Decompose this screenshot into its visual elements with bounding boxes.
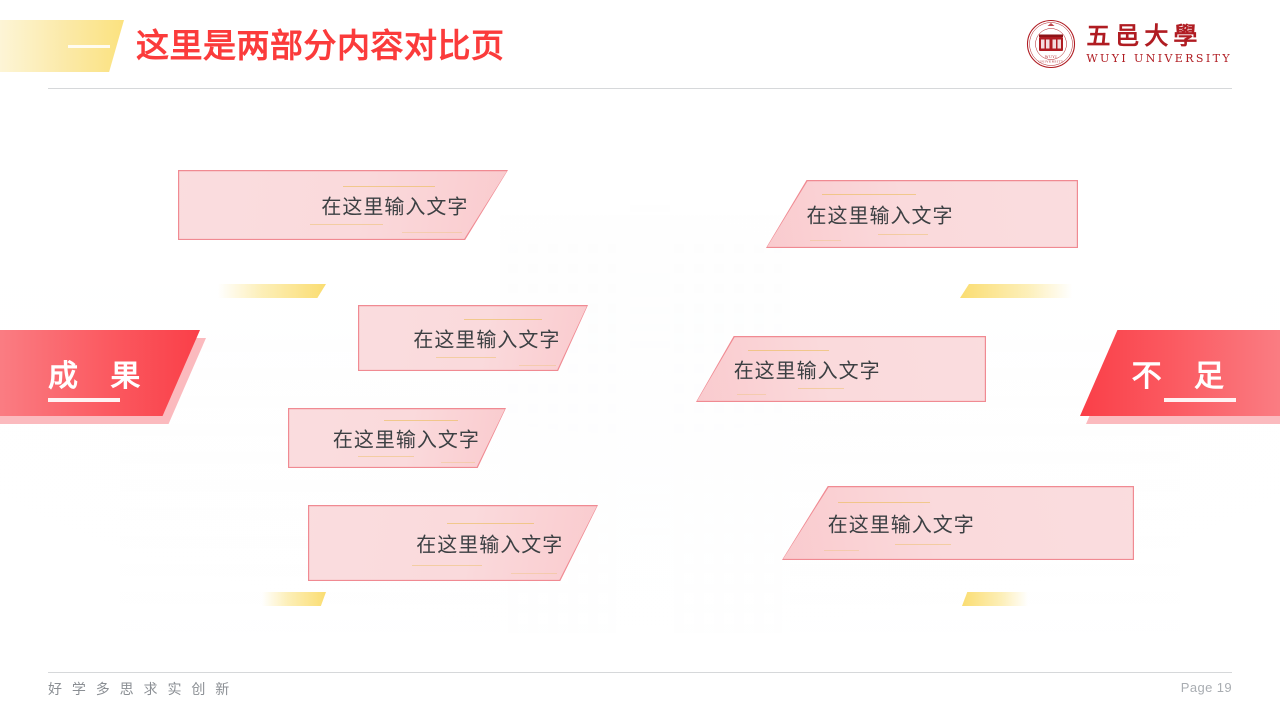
- box-accent-line-mid: [895, 544, 951, 545]
- text-box-right-2[interactable]: 在这里输入文字: [696, 336, 986, 402]
- box-accent-line-mid: [358, 456, 415, 457]
- box-accent-line-top: [384, 420, 458, 421]
- gold-accent-bar-bottom-right: [962, 592, 1028, 606]
- slide-canvas: 这里是两部分内容对比页 WUYI UNIVERSITY 五邑大學 WUYI UN…: [0, 0, 1280, 720]
- banner-label: 不 足: [1132, 351, 1236, 395]
- logo-name-en: WUYI UNIVERSITY: [1086, 53, 1232, 64]
- banner-face: 不 足: [1080, 330, 1280, 416]
- title-accent-tab-line: [68, 45, 110, 48]
- box-accent-line-mid: [798, 388, 844, 389]
- banner-underline: [1164, 398, 1236, 402]
- university-logo: WUYI UNIVERSITY 五邑大學 WUYI UNIVERSITY: [1026, 16, 1232, 72]
- box-accent-line-mid: [412, 565, 482, 566]
- gold-accent-bar-bottom-left: [262, 592, 326, 606]
- slide-header: 这里是两部分内容对比页 WUYI UNIVERSITY 五邑大學 WUYI UN…: [0, 0, 1280, 96]
- gold-accent-bar-top-right: [960, 284, 1072, 298]
- box-accent-line-bottom: [519, 365, 556, 366]
- text-box-left-1[interactable]: 在这里输入文字: [178, 170, 508, 240]
- box-accent-line-bottom: [810, 240, 841, 241]
- box-accent-line-top: [464, 319, 542, 320]
- text-box-right-3[interactable]: 在这里输入文字: [782, 486, 1134, 560]
- footer-divider: [48, 672, 1232, 673]
- header-divider: [48, 88, 1232, 89]
- logo-wordmark: 五邑大學 WUYI UNIVERSITY: [1086, 24, 1232, 64]
- banner-label: 成 果: [48, 351, 152, 395]
- box-accent-line-bottom: [441, 462, 476, 463]
- box-accent-line-mid: [878, 234, 928, 235]
- text-box-label: 在这里输入文字: [734, 355, 881, 384]
- logo-name-cn: 五邑大學: [1086, 24, 1232, 48]
- text-box-label: 在这里输入文字: [416, 529, 563, 558]
- box-accent-line-mid: [436, 357, 496, 358]
- page-number: Page 19: [1181, 680, 1232, 695]
- box-accent-line-bottom: [511, 573, 557, 574]
- gold-accent-bar-top-left: [218, 284, 326, 298]
- category-banner-achievements[interactable]: 成 果: [0, 330, 200, 416]
- text-box-label: 在这里输入文字: [413, 324, 560, 353]
- box-accent-line-bottom: [824, 550, 859, 551]
- page-title: 这里是两部分内容对比页: [136, 20, 505, 72]
- text-box-left-3[interactable]: 在这里输入文字: [288, 408, 506, 468]
- wuyi-university-seal-icon: WUYI UNIVERSITY: [1026, 19, 1076, 69]
- svg-text:UNIVERSITY: UNIVERSITY: [1039, 60, 1064, 64]
- banner-underline: [48, 398, 120, 402]
- box-accent-line-top: [343, 186, 435, 187]
- text-box-label: 在这里输入文字: [321, 191, 468, 220]
- text-box-label: 在这里输入文字: [333, 424, 480, 453]
- box-accent-line-bottom: [737, 394, 766, 395]
- footer-motto: 好 学 多 思 求 实 创 新: [48, 679, 232, 699]
- svg-text:WUYI: WUYI: [1045, 55, 1057, 59]
- box-accent-line-top: [447, 523, 534, 524]
- box-accent-line-mid: [310, 224, 383, 225]
- text-box-label: 在这里输入文字: [828, 509, 975, 538]
- box-accent-line-top: [748, 350, 829, 351]
- category-banner-shortcomings[interactable]: 不 足: [1080, 330, 1280, 416]
- box-accent-line-top: [822, 194, 916, 195]
- text-box-right-1[interactable]: 在这里输入文字: [766, 180, 1078, 248]
- text-box-left-4[interactable]: 在这里输入文字: [308, 505, 598, 581]
- box-accent-line-top: [838, 502, 930, 503]
- text-box-label: 在这里输入文字: [807, 200, 954, 229]
- box-accent-line-bottom: [402, 232, 461, 233]
- text-box-left-2[interactable]: 在这里输入文字: [358, 305, 588, 371]
